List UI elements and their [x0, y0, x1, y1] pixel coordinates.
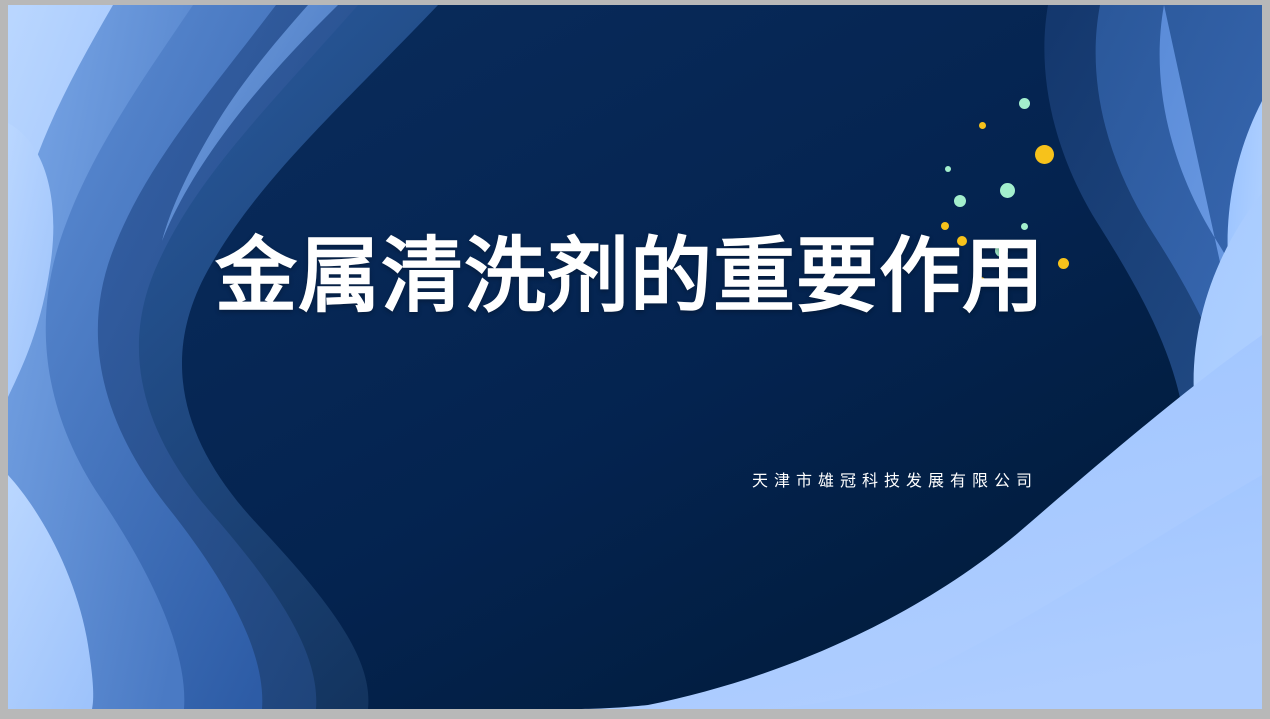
slide-frame: 金属清洗剂的重要作用 天津市雄冠科技发展有限公司 [0, 0, 1270, 719]
background-wave-artwork [8, 5, 1262, 709]
slide-canvas: 金属清洗剂的重要作用 天津市雄冠科技发展有限公司 [8, 5, 1262, 709]
